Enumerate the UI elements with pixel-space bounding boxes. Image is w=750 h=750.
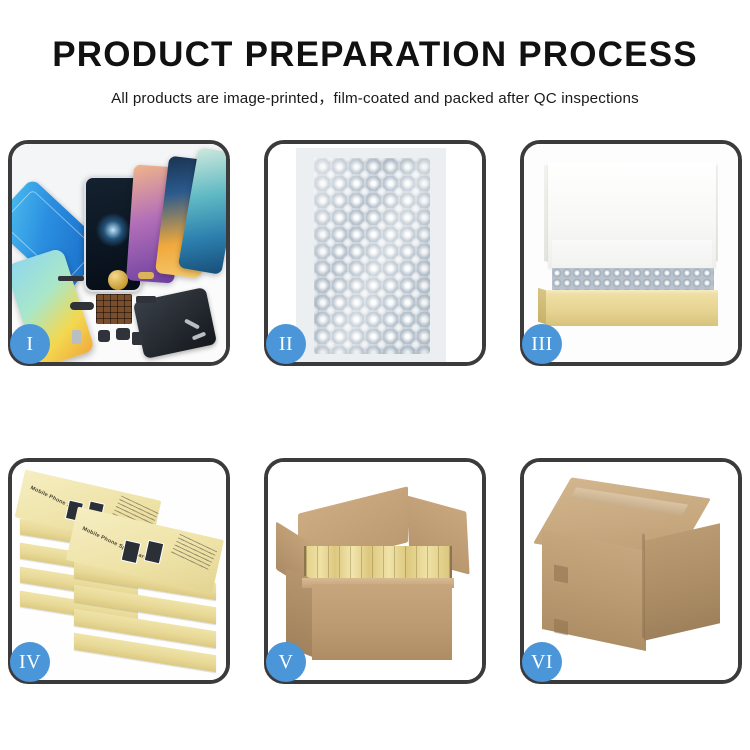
step-number-badge-3: III [522,324,562,364]
process-steps-grid: I II III [8,140,742,684]
box-print-screen-image [121,539,142,564]
box-print-screen-image [144,540,165,565]
carton-flap-seam [554,565,568,584]
small-part-camera [116,328,130,340]
small-part-sim-tray [72,330,81,344]
ic-chip-part [96,294,132,324]
small-part-bracket [136,296,156,303]
carton-front-panel [312,584,452,660]
step-panel-1: I [8,140,230,366]
box-front-panel [546,294,718,326]
box-print-spec-lines [171,534,218,571]
sealed-carton-vertical-edge [642,534,645,639]
step-number-badge-2: II [266,324,306,364]
page-title: PRODUCT PREPARATION PROCESS [0,36,750,75]
step-number-badge-5: V [266,642,306,682]
step-number-badge-1: I [10,324,50,364]
small-part-strip [58,276,84,281]
small-part-flex-cable [70,302,94,310]
page-subtitle: All products are image-printed，film-coat… [0,86,750,108]
carton-flap-seam [554,619,568,636]
step-number-badge-6: VI [522,642,562,682]
bubble-wrap-sheen [314,158,430,354]
small-part-button [98,330,110,342]
box-stack: Mobile Phone Spare Parts Mobile Phone Sp… [18,476,220,666]
step-panel-4: Mobile Phone Spare Parts Mobile Phone Sp… [8,458,230,684]
step-panel-3: III [520,140,742,366]
small-part-gold-connector [138,272,154,279]
step-panel-6: VI [520,458,742,684]
sealed-carton-right [644,523,720,641]
step-panel-2: II [264,140,486,366]
coil-part [108,270,128,290]
step-panel-5: V [264,458,486,684]
small-part-speaker [132,332,143,345]
page-header: PRODUCT PREPARATION PROCESS All products… [0,0,750,108]
step-number-badge-4: IV [10,642,50,682]
